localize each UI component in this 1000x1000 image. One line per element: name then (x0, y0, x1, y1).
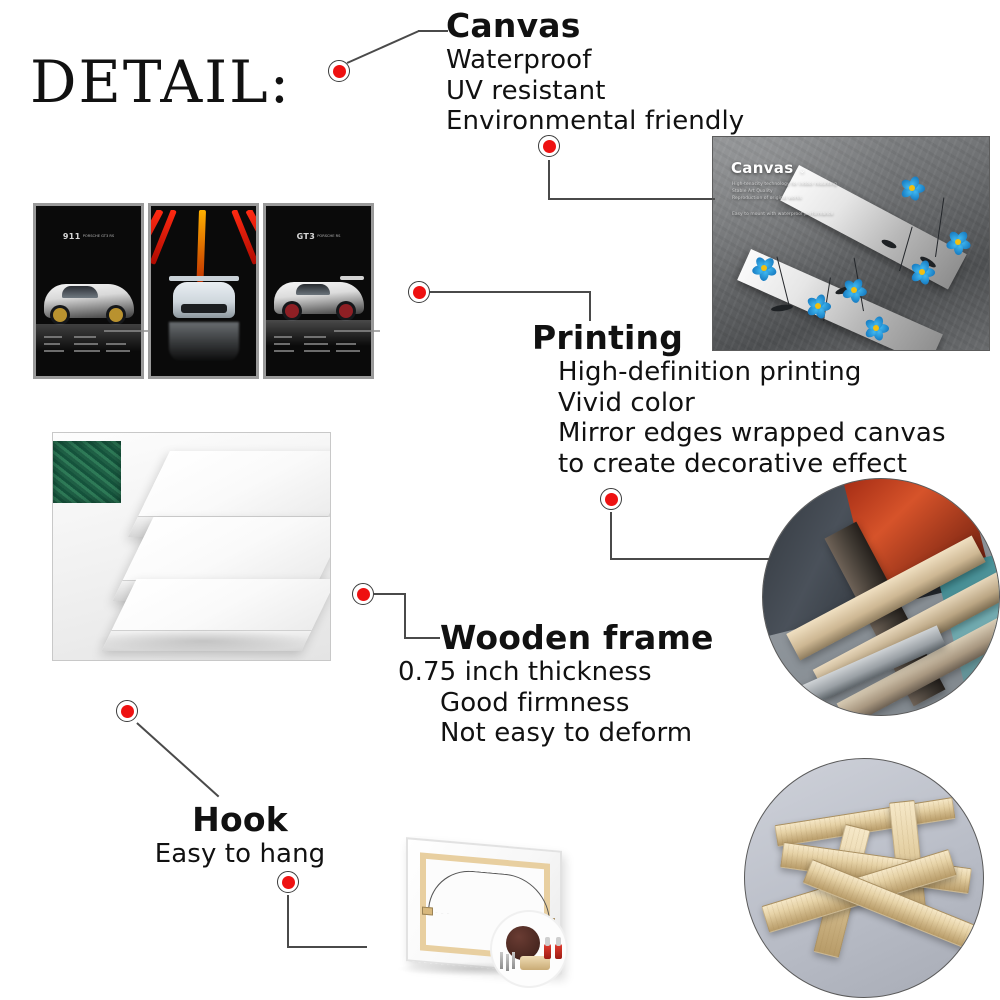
car-rear-wing (169, 276, 239, 281)
callout-printing-line-2: Vivid color (532, 388, 946, 419)
car-windshield (62, 286, 98, 298)
mirror-wrapped-edges-closeup (762, 478, 1000, 716)
blue-flower (841, 277, 867, 303)
poster-front-view (151, 206, 256, 376)
leader-line-mirror-vertical (610, 512, 612, 560)
poster-3-title: GT3PORSCHE RS (266, 232, 371, 241)
callout-canvas-line-3: Environmental friendly (446, 106, 744, 137)
poster-gt3rs: GT3PORSCHE RS (266, 206, 371, 376)
marker-mirror-edges[interactable] (600, 488, 622, 510)
marker-wooden-frame[interactable] (352, 583, 374, 605)
leaf (771, 303, 794, 312)
marker-hook-photo[interactable] (277, 871, 299, 893)
blue-flower (899, 175, 925, 201)
canvas-photo-microtext-1: High-tenacity technology for indoor moun… (732, 182, 837, 202)
callout-printing-line-1: High-definition printing (532, 357, 946, 388)
callout-hook: Hook Easy to hang (140, 802, 340, 870)
blank-canvas-stack (52, 432, 331, 661)
car-wheel-rear (336, 301, 356, 321)
callout-canvas: Canvas Waterproof UV resistant Environme… (446, 8, 744, 137)
callout-printing-line-4: to create decorative effect (532, 449, 946, 480)
stack-shadow (93, 629, 313, 653)
poster-1-title: 911PORSCHE GT3 RS (36, 232, 141, 241)
leader-line-canvas-photo-vertical (548, 160, 550, 200)
microtext-line: Stable Art Quality (732, 189, 837, 196)
marker-canvas[interactable] (328, 60, 350, 82)
canvas-photo-label: Canvas⌄ (731, 159, 806, 177)
poster-subtitle: PORSCHE GT3 RS (83, 234, 114, 238)
callout-printing-heading: Printing (532, 320, 946, 357)
page-title: DETAIL: (30, 48, 291, 116)
canvas-flower-sample: Canvas⌄ High-tenacity technology for ind… (712, 136, 990, 351)
microtext-line: High-tenacity technology for indoor moun… (732, 182, 837, 189)
blue-flower (909, 259, 935, 285)
hardware-kit-inset (492, 912, 566, 986)
marker-hook[interactable] (116, 700, 138, 722)
callout-wooden-frame: Wooden frame 0.75 inch thickness Good fi… (398, 620, 714, 749)
car-wheel-rear (106, 305, 126, 325)
poster-911-gt3rs: 911PORSCHE GT3 RS (36, 206, 141, 376)
blue-flower (751, 255, 777, 281)
canvas-back-hanging-kit (380, 836, 594, 988)
screw (512, 952, 515, 969)
blue-flower (805, 293, 831, 319)
callout-printing-line-3: Mirror edges wrapped canvas (532, 418, 946, 449)
leader-line-printing-vertical (589, 291, 591, 321)
green-textile-backdrop (53, 441, 121, 503)
leader-line-frame-h1 (374, 593, 406, 595)
hanging-hook (555, 944, 562, 959)
car-grille (181, 304, 227, 313)
leader-line-hook-diagonal (136, 722, 219, 797)
chevron-down-icon: ⌄ (798, 166, 806, 176)
screw (500, 952, 503, 969)
callout-canvas-heading: Canvas (446, 8, 744, 45)
poster-subtitle: PORSCHE RS (317, 234, 340, 238)
callout-hook-heading: Hook (140, 802, 340, 839)
callout-frame-line-3: Not easy to deform (398, 718, 714, 749)
leader-line-mirror-horizontal (610, 558, 770, 560)
callout-hook-line-1: Easy to hang (140, 839, 340, 870)
canvas-photo-label-text: Canvas (731, 159, 793, 177)
screw (506, 954, 509, 971)
marker-printing[interactable] (408, 281, 430, 303)
callout-frame-line-1: 0.75 inch thickness (398, 657, 714, 688)
leader-line-hook-photo-horizontal (287, 946, 367, 948)
callout-canvas-line-2: UV resistant (446, 76, 744, 107)
leader-line-hook-photo-vertical (287, 895, 289, 948)
poster-spec-lines (44, 336, 133, 362)
microtext-line: Reproduction of original works (732, 196, 837, 203)
car-reflection (169, 322, 239, 362)
microtext-line: Easy to mount with waterproof performanc… (732, 212, 833, 219)
leader-line-canvas-photo-horizontal (548, 198, 715, 200)
leader-line-canvas-diagonal (347, 30, 419, 63)
car-poster-triptych: 911PORSCHE GT3 RS (18, 200, 383, 382)
infographic-canvas: DETAIL: 911PORSCHE GT3 RS (0, 0, 1000, 1000)
wire-eyelet-left (422, 907, 433, 916)
blue-flower (945, 229, 971, 255)
callout-frame-line-2: Good firmness (398, 688, 714, 719)
leader-line-canvas-horizontal (418, 30, 448, 32)
wooden-stretcher-bars-closeup (744, 758, 984, 998)
car-windshield (296, 284, 330, 295)
callout-canvas-line-1: Waterproof (446, 45, 744, 76)
car-wheel-front (50, 305, 70, 325)
hanging-hook (544, 944, 551, 959)
marker-canvas-photo[interactable] (538, 135, 560, 157)
canvas-photo-microtext-2: Easy to mount with waterproof performanc… (732, 212, 833, 219)
car-rear-wing (340, 276, 364, 280)
car-wheel-front (282, 301, 302, 321)
poster-spec-lines (274, 336, 363, 362)
leader-line-printing-horizontal (430, 291, 590, 293)
callout-frame-heading: Wooden frame (398, 620, 714, 657)
callout-printing: Printing High-definition printing Vivid … (532, 320, 946, 480)
